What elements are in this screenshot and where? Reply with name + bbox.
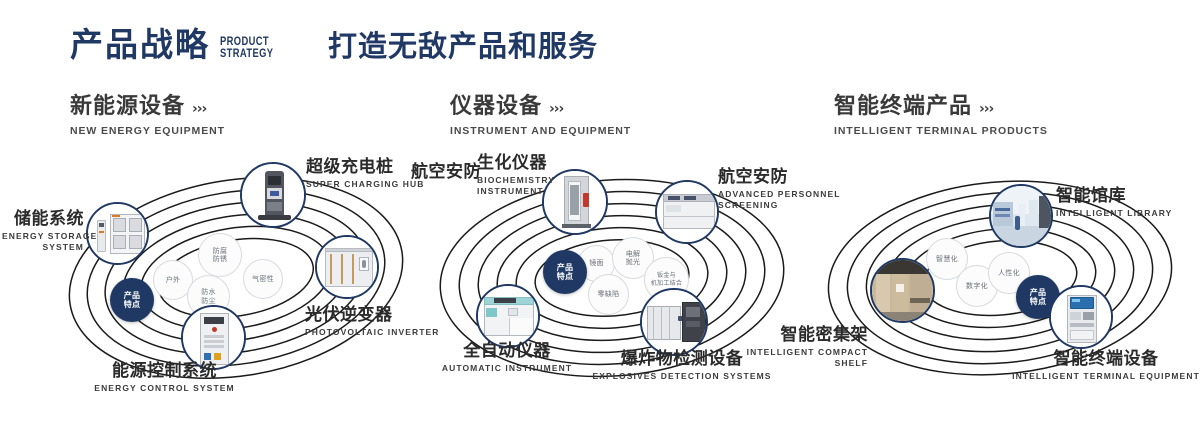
section-heading-cn: 新能源设备››› xyxy=(70,95,225,121)
label-intelligent-terminal-equipment: 智能终端设备 INTELLIGENT TERMINAL EQUIPMENT xyxy=(1012,350,1200,382)
node-super-charging-hub[interactable] xyxy=(240,162,306,228)
intelligent-library-icon xyxy=(991,186,1051,246)
label-cn: 储能系统 xyxy=(2,210,84,229)
core-bubble-line1: 产品 xyxy=(1030,288,1047,298)
chevron-right-triple-icon: ››› xyxy=(979,101,993,117)
label-super-charging-hub: 超级充电桩 SUPER CHARGING HUB xyxy=(306,158,425,190)
control-cabinet-icon xyxy=(183,307,244,368)
section-heading-en: INSTRUMENT AND EQUIPMENT xyxy=(450,125,631,137)
label-en-line1: ENERGY CONTROL SYSTEM xyxy=(62,383,267,394)
section-heading-en: INTELLIGENT TERMINAL PRODUCTS xyxy=(834,125,1048,137)
feature-label: 智慧化 xyxy=(936,255,958,264)
core-bubble-product-features: 产品 特点 xyxy=(543,250,587,294)
label-en-line1: BIOCHEMISTRY xyxy=(477,175,555,186)
feature-label: 钣金与 xyxy=(651,272,683,280)
label-en-line2: SYSTEM xyxy=(2,242,84,253)
section-heading-instrument: 仪器设备››› INSTRUMENT AND EQUIPMENT xyxy=(450,95,631,137)
label-cn: 超级充电桩 xyxy=(306,158,425,177)
feature-bubble: 零缺陷 xyxy=(588,274,629,315)
label-en-line1: ENERGY STORAGE xyxy=(2,231,84,242)
page-title-en: PRODUCT STRATEGY xyxy=(220,35,273,59)
label-cn: 智能终端设备 xyxy=(1012,350,1200,369)
pv-inverter-icon xyxy=(317,237,377,297)
label-aviation-security-left: 航空安防 xyxy=(411,163,481,182)
section-heading-intelligent-terminal: 智能终端产品››› INTELLIGENT TERMINAL PRODUCTS xyxy=(834,95,1048,137)
poster-canvas: 产品战略 PRODUCT STRATEGY 打造无敌产品和服务 新能源设备›››… xyxy=(0,0,1200,422)
node-photovoltaic-inverter[interactable] xyxy=(315,235,379,299)
feature-label: 气密性 xyxy=(252,275,274,284)
automatic-instrument-icon xyxy=(478,286,538,346)
feature-label: 零缺陷 xyxy=(598,290,620,299)
label-en-line1: INTELLIGENT LIBRARY xyxy=(1056,208,1172,219)
diagram-intelligent-terminal: 智慧化 数字化 人性化 产品 特点 xyxy=(800,150,1200,400)
node-automatic-instrument[interactable] xyxy=(476,284,540,348)
label-energy-control-system: 能源控制系统 ENERGY CONTROL SYSTEM xyxy=(62,362,267,394)
node-intelligent-compact-shelf[interactable] xyxy=(870,258,935,323)
feature-bubble: 防腐 防锈 xyxy=(198,233,242,277)
label-cn: 生化仪器 xyxy=(477,154,555,173)
feature-label: 户外 xyxy=(166,276,181,285)
page-title-en-line2: STRATEGY xyxy=(220,47,273,59)
explosives-detector-icon xyxy=(642,290,706,354)
core-bubble-line2: 特点 xyxy=(124,300,141,310)
section-heading-cn-text: 智能终端产品 xyxy=(834,94,972,119)
core-bubble-line2: 特点 xyxy=(1030,297,1047,307)
feature-label: 电解 xyxy=(626,250,641,259)
feature-label-2: 防尘 xyxy=(201,297,216,306)
node-explosives-detection-systems[interactable] xyxy=(640,288,708,356)
label-biochemistry-instrument: 生化仪器 BIOCHEMISTRY INSTRUMENT xyxy=(477,154,555,197)
label-cn: 全自动仪器 xyxy=(407,342,607,361)
feature-label: 数字化 xyxy=(966,282,988,291)
diagram-new-energy: 户外 防腐 防锈 防水 防尘 气密性 产品 特点 xyxy=(40,150,430,400)
feature-label: 防腐 xyxy=(213,247,228,256)
node-intelligent-terminal-equipment[interactable] xyxy=(1049,285,1113,349)
page-title-cn: 产品战略 xyxy=(70,28,210,61)
label-intelligent-library: 智能馆库 INTELLIGENT LIBRARY xyxy=(1056,187,1172,219)
label-cn: 航空安防 xyxy=(411,163,481,182)
compact-shelf-icon xyxy=(872,260,933,321)
page-subtitle: 打造无敌产品和服务 xyxy=(328,32,598,61)
feature-label: 防水 xyxy=(201,288,216,297)
core-bubble-line1: 产品 xyxy=(124,291,141,301)
label-en-line1: SUPER CHARGING HUB xyxy=(306,179,425,190)
feature-bubble: 气密性 xyxy=(243,259,283,299)
chevron-right-triple-icon: ››› xyxy=(192,101,206,117)
personnel-screening-icon xyxy=(657,182,717,242)
feature-label: 镜面 xyxy=(589,259,604,268)
label-en-line1: EXPLOSIVES DETECTION SYSTEMS xyxy=(592,371,772,382)
section-heading-cn: 智能终端产品››› xyxy=(834,95,1048,121)
feature-label: 人性化 xyxy=(998,269,1020,278)
label-en-line1: INTELLIGENT TERMINAL EQUIPMENT xyxy=(1012,371,1200,382)
label-energy-storage-system: 储能系统 ENERGY STORAGE SYSTEM xyxy=(2,210,84,253)
label-automatic-instrument: 全自动仪器 AUTOMATIC INSTRUMENT xyxy=(407,342,607,374)
label-intelligent-compact-shelf: 智能密集架 INTELLIGENT COMPACT SHELF xyxy=(738,326,868,369)
terminal-kiosk-icon xyxy=(1051,287,1111,347)
feature-label-2: 机加工结合 xyxy=(651,280,683,288)
section-heading-cn-text: 新能源设备 xyxy=(70,94,185,119)
section-heading-cn: 仪器设备››› xyxy=(450,95,631,121)
feature-label-2: 防锈 xyxy=(213,255,228,264)
section-heading-en: NEW ENERGY EQUIPMENT xyxy=(70,125,225,137)
section-heading-cn-text: 仪器设备 xyxy=(450,94,542,119)
label-en-line2: SHELF xyxy=(738,358,868,369)
chevron-right-triple-icon: ››› xyxy=(549,101,563,117)
page-title: 产品战略 PRODUCT STRATEGY xyxy=(70,28,288,61)
label-cn: 智能密集架 xyxy=(738,326,868,345)
core-bubble-line2: 特点 xyxy=(557,272,574,282)
label-cn: 能源控制系统 xyxy=(62,362,267,381)
label-en-line1: INTELLIGENT COMPACT xyxy=(738,347,868,358)
label-en-line2: INSTRUMENT xyxy=(477,186,555,197)
label-en-line1: AUTOMATIC INSTRUMENT xyxy=(407,363,607,374)
core-bubble-line1: 产品 xyxy=(557,263,574,273)
label-cn: 智能馆库 xyxy=(1056,187,1172,206)
node-advanced-personnel-screening[interactable] xyxy=(655,180,719,244)
section-heading-new-energy: 新能源设备››› NEW ENERGY EQUIPMENT xyxy=(70,95,225,137)
feature-label-2: 抛光 xyxy=(626,258,641,267)
charging-pile-icon xyxy=(242,164,304,226)
node-intelligent-library[interactable] xyxy=(989,184,1053,248)
core-bubble-product-features: 产品 特点 xyxy=(110,278,154,322)
